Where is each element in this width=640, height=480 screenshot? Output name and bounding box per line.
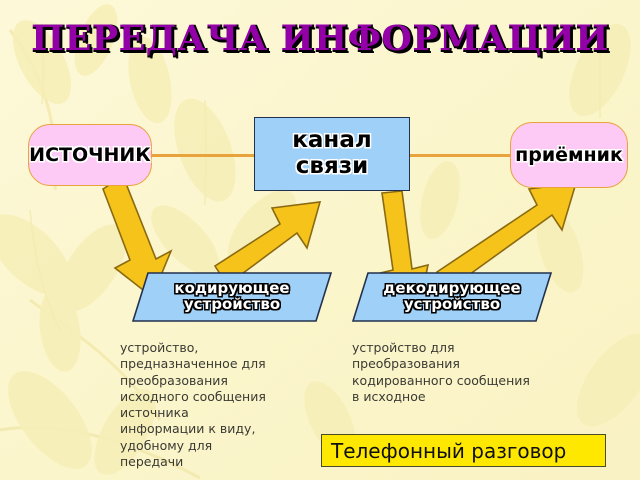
connector-channel-to-receiver	[409, 154, 514, 157]
node-receiver[interactable]: приёмник	[510, 122, 628, 188]
node-channel-label-line2: связи	[296, 154, 368, 180]
node-communication-channel[interactable]: канал связи	[254, 117, 410, 191]
node-encoder[interactable]: кодирующее устройство	[132, 272, 332, 322]
callout-label: Телефонный разговор	[331, 439, 566, 463]
connector-source-to-channel	[148, 154, 254, 157]
node-source-label: ИСТОЧНИК	[29, 144, 151, 166]
decoder-description: устройство для преобразования кодированн…	[352, 340, 537, 405]
node-source[interactable]: ИСТОЧНИК	[28, 124, 152, 186]
background-watermark-leaves	[0, 0, 640, 480]
slide-canvas: ПЕРЕДАЧА ИНФОРМАЦИИ	[0, 0, 640, 480]
callout-example-box[interactable]: Телефонный разговор	[321, 434, 606, 467]
node-receiver-label: приёмник	[515, 144, 623, 166]
page-title: ПЕРЕДАЧА ИНФОРМАЦИИ	[0, 18, 640, 59]
encoder-description: устройство, предназначенное для преобраз…	[120, 340, 270, 470]
node-decoder[interactable]: декодирующее устройство	[352, 272, 552, 322]
arrow-layer	[0, 0, 640, 480]
node-channel-label-line1: канал	[292, 128, 371, 154]
